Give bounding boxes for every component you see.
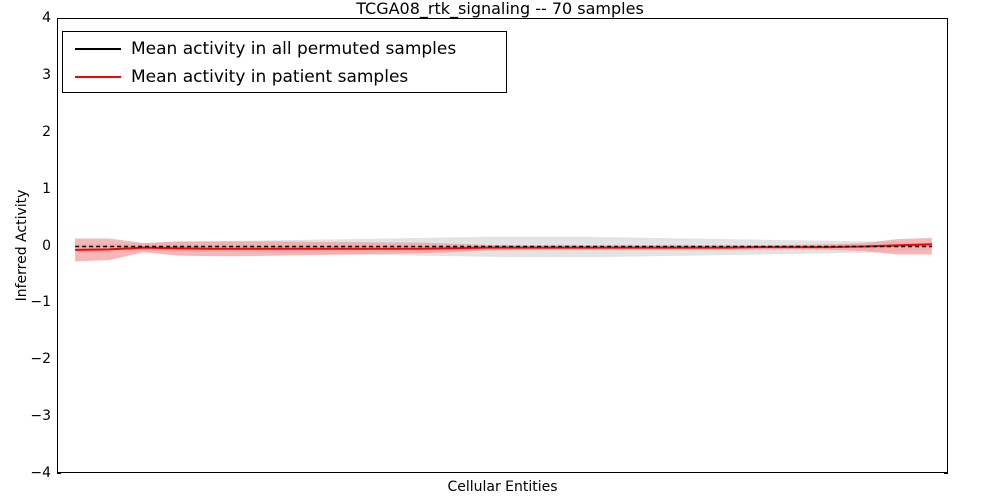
y-tick-label: 1 — [0, 181, 51, 197]
chart-figure: TCGA08_rtk_signaling -- 70 samples Infer… — [0, 0, 1000, 500]
y-tick-label: 3 — [0, 67, 51, 83]
legend-entry-patient: Mean activity in patient samples — [63, 63, 506, 91]
y-tick-mark — [57, 473, 61, 474]
y-tick-label: 2 — [0, 124, 51, 140]
y-tick-label: −4 — [0, 465, 51, 481]
y-tick-label: 4 — [0, 10, 51, 26]
x-axis-label: Cellular Entities — [57, 479, 948, 495]
chart-legend: Mean activity in all permuted samples Me… — [62, 31, 507, 93]
legend-label-patient: Mean activity in patient samples — [131, 66, 408, 88]
y-tick-label: −3 — [0, 408, 51, 424]
y-tick-label: −2 — [0, 351, 51, 367]
legend-swatch-permuted — [75, 48, 121, 50]
chart-title: TCGA08_rtk_signaling -- 70 samples — [0, 0, 1000, 18]
legend-entry-permuted: Mean activity in all permuted samples — [63, 35, 506, 63]
y-tick-label: −1 — [0, 294, 51, 310]
legend-label-permuted: Mean activity in all permuted samples — [131, 38, 456, 60]
y-tick-mark — [944, 473, 948, 474]
y-tick-label: 0 — [0, 238, 51, 254]
legend-swatch-patient — [75, 76, 121, 78]
